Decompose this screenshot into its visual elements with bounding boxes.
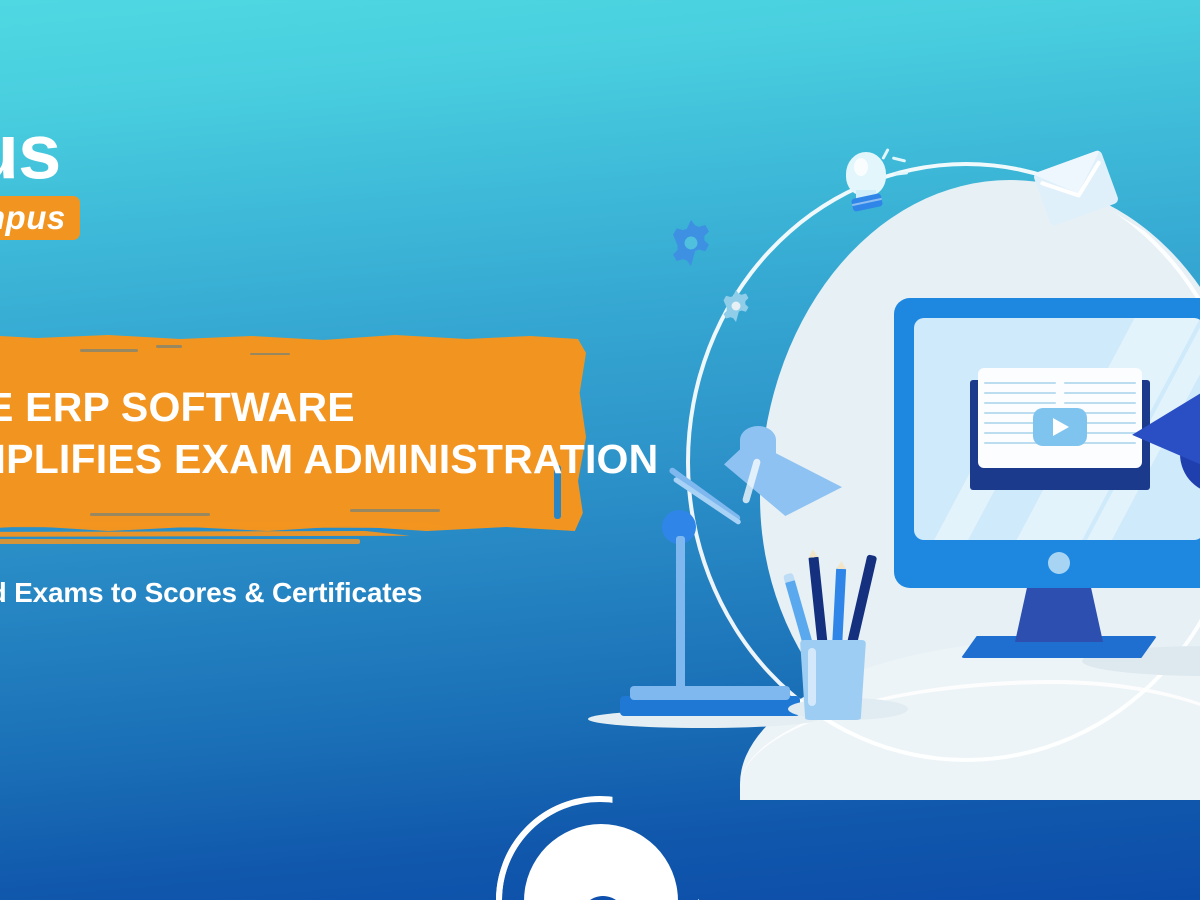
brush-streak — [0, 539, 360, 544]
headline-brush-banner: COLLEGE ERP SOFTWARE THAT SIMPLIFIES EXA… — [0, 333, 586, 533]
brand-logo-badge: campus — [0, 196, 80, 240]
lightbulb-icon — [840, 152, 892, 216]
brand-logo-word: plus — [0, 112, 60, 190]
banner-canvas: COLLEGE ERP SOFTWARE THAT SIMPLIFIES EXA… — [0, 0, 1200, 900]
graduation-cap-icon — [1132, 388, 1200, 508]
desk-books-icon — [620, 684, 810, 718]
page-title: COLLEGE ERP SOFTWARE THAT SIMPLIFIES EXA… — [0, 333, 586, 533]
gear-icon-small — [720, 290, 752, 322]
circular-logo-mark — [496, 796, 706, 900]
headline-line-2: THAT SIMPLIFIES EXAM ADMINISTRATION — [0, 433, 586, 485]
brand-logo[interactable]: plus campus — [0, 112, 264, 252]
brand-logo-badge-label: campus — [0, 199, 66, 237]
play-button-icon — [1033, 408, 1087, 446]
monitor-power-dot — [1048, 552, 1070, 574]
headline-line-1: COLLEGE ERP SOFTWARE — [0, 381, 586, 433]
page-subtitle: From Scheduled Exams to Scores & Certifi… — [0, 577, 690, 609]
gear-icon-large — [668, 220, 714, 266]
open-book-icon — [970, 368, 1150, 490]
hero-illustration — [640, 120, 1200, 800]
pencil-cup-icon — [788, 570, 878, 720]
